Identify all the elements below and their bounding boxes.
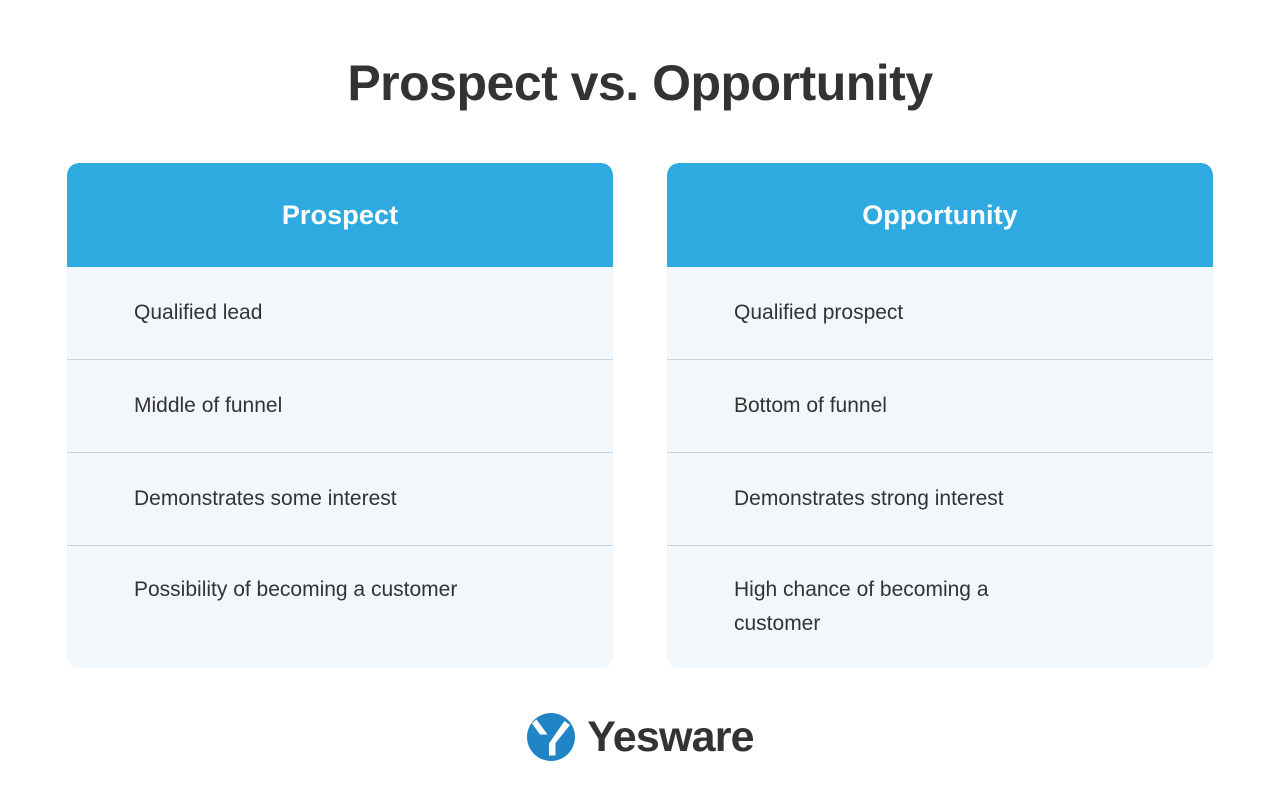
table-row: Qualified prospect: [667, 267, 1213, 360]
brand-logo: Yesware: [0, 712, 1280, 762]
table-row: Possibility of becoming a customer: [67, 546, 613, 668]
column-header-opportunity: Opportunity: [667, 163, 1213, 267]
column-body-prospect: Qualified lead Middle of funnel Demonstr…: [67, 267, 613, 668]
column-header-prospect-label: Prospect: [282, 200, 398, 231]
page-title: Prospect vs. Opportunity: [0, 52, 1280, 114]
row-text: Possibility of becoming a customer: [134, 573, 457, 607]
row-text: Middle of funnel: [134, 389, 282, 423]
yesware-circle-y-icon: [526, 712, 576, 762]
table-row: Middle of funnel: [67, 360, 613, 453]
comparison-table: Prospect Qualified lead Middle of funnel…: [67, 163, 1213, 668]
row-text: Demonstrates strong interest: [734, 482, 1004, 516]
column-header-prospect: Prospect: [67, 163, 613, 267]
table-row: Bottom of funnel: [667, 360, 1213, 453]
row-text: High chance of becoming a customer: [734, 573, 1064, 641]
infographic-page: Prospect vs. Opportunity Prospect Qualif…: [0, 0, 1280, 809]
comparison-column-opportunity: Opportunity Qualified prospect Bottom of…: [667, 163, 1213, 668]
brand-name: Yesware: [587, 712, 754, 762]
table-row: Demonstrates some interest: [67, 453, 613, 546]
row-text: Qualified lead: [134, 296, 262, 330]
table-row: Qualified lead: [67, 267, 613, 360]
row-text: Qualified prospect: [734, 296, 903, 330]
column-body-opportunity: Qualified prospect Bottom of funnel Demo…: [667, 267, 1213, 668]
column-header-opportunity-label: Opportunity: [862, 200, 1018, 231]
table-row: High chance of becoming a customer: [667, 546, 1213, 668]
row-text: Demonstrates some interest: [134, 482, 397, 516]
row-text: Bottom of funnel: [734, 389, 887, 423]
table-row: Demonstrates strong interest: [667, 453, 1213, 546]
comparison-column-prospect: Prospect Qualified lead Middle of funnel…: [67, 163, 613, 668]
